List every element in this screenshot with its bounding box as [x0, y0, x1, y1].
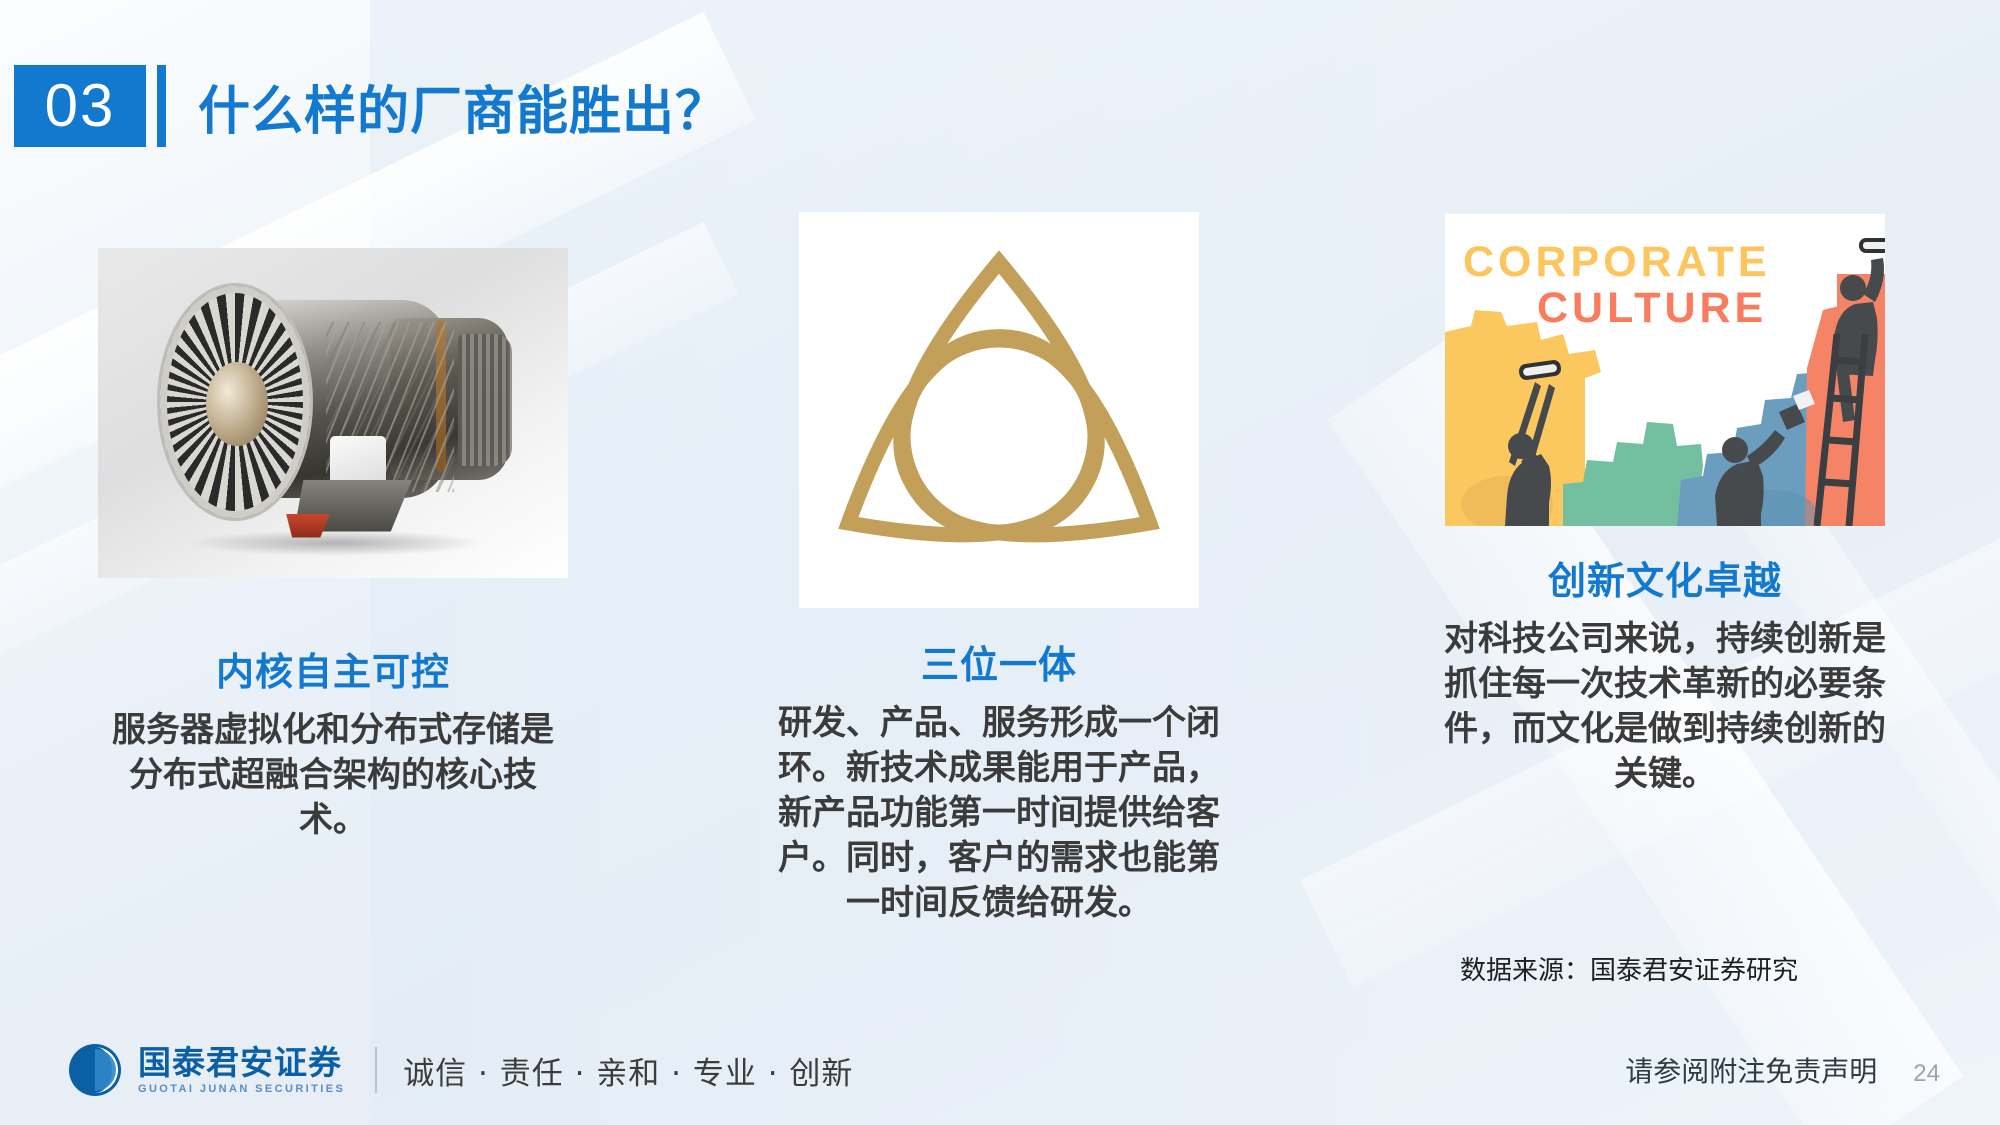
- corporate-culture-illustration: CORPORATE CULTURE: [1445, 214, 1885, 526]
- illustration-headline-top: CORPORATE: [1463, 238, 1771, 287]
- column-media-slot: [784, 210, 1214, 610]
- footer-right-group: 请参阅附注免责声明 24: [1625, 1050, 1940, 1090]
- column-body-text: 对科技公司来说，持续创新是抓住每一次技术革新的必要条件，而文化是做到持续创新的关…: [1435, 617, 1895, 797]
- column-body-text: 研发、产品、服务形成一个闭环。新技术成果能用于产品，新产品功能第一时间提供给客户…: [769, 701, 1229, 925]
- engine-drop-shadow: [186, 530, 486, 556]
- column-body-text: 服务器虚拟化和分布式存储是分布式超融合架构的核心技术。: [103, 708, 563, 843]
- slide-footer: 国泰君安证券 GUOTAI JUNAN SECURITIES 诚信 · 责任 ·…: [0, 1015, 2000, 1125]
- triquetra-symbol: [799, 212, 1199, 608]
- section-number-badge: 03: [14, 65, 146, 147]
- company-logo: 国泰君安证券 GUOTAI JUNAN SECURITIES: [68, 1043, 345, 1097]
- column-title: 内核自主可控: [216, 641, 450, 696]
- content-columns: 内核自主可控 服务器虚拟化和分布式存储是分布式超融合架构的核心技术。: [0, 210, 2000, 925]
- footer-disclaimer: 请参阅附注免责声明: [1625, 1050, 1877, 1090]
- engine-spinner-hub: [206, 362, 268, 446]
- column-trinity: 三位一体 研发、产品、服务形成一个闭环。新技术成果能用于产品，新产品功能第一时间…: [666, 210, 1332, 925]
- slide-header: 03 什么样的厂商能胜出？: [14, 64, 728, 148]
- column-kernel-autonomy: 内核自主可控 服务器虚拟化和分布式存储是分布式超融合架构的核心技术。: [0, 210, 666, 925]
- header-accent-rule: [157, 65, 166, 147]
- page-number: 24: [1913, 1060, 1940, 1088]
- footer-divider: [375, 1047, 377, 1093]
- logo-name-en: GUOTAI JUNAN SECURITIES: [138, 1084, 345, 1095]
- logo-name-cn: 国泰君安证券: [138, 1046, 345, 1079]
- source-note: 数据来源：国泰君安证券研究: [1460, 950, 1798, 987]
- jet-engine-photo: [98, 248, 568, 578]
- page-title: 什么样的厂商能胜出？: [198, 69, 728, 144]
- column-media-slot: CORPORATE CULTURE: [1438, 210, 1893, 530]
- footer-tagline: 诚信 · 责任 · 亲和 · 专业 · 创新: [403, 1048, 853, 1093]
- column-innovation-culture: CORPORATE CULTURE 创新文化卓越 对科技公司来说，持续创新是抓住…: [1332, 210, 1998, 925]
- column-title: 创新文化卓越: [1548, 550, 1782, 605]
- column-title: 三位一体: [921, 634, 1077, 689]
- triquetra-icon: [819, 240, 1179, 580]
- slide: 03 什么样的厂商能胜出？: [0, 0, 2000, 1125]
- logo-text: 国泰君安证券 GUOTAI JUNAN SECURITIES: [138, 1046, 345, 1095]
- guotai-junan-circle-logo-icon: [68, 1043, 122, 1097]
- engine-turbine-rings: [458, 334, 512, 466]
- column-media-slot: [88, 210, 578, 615]
- illustration-headline-bottom: CULTURE: [1537, 284, 1767, 333]
